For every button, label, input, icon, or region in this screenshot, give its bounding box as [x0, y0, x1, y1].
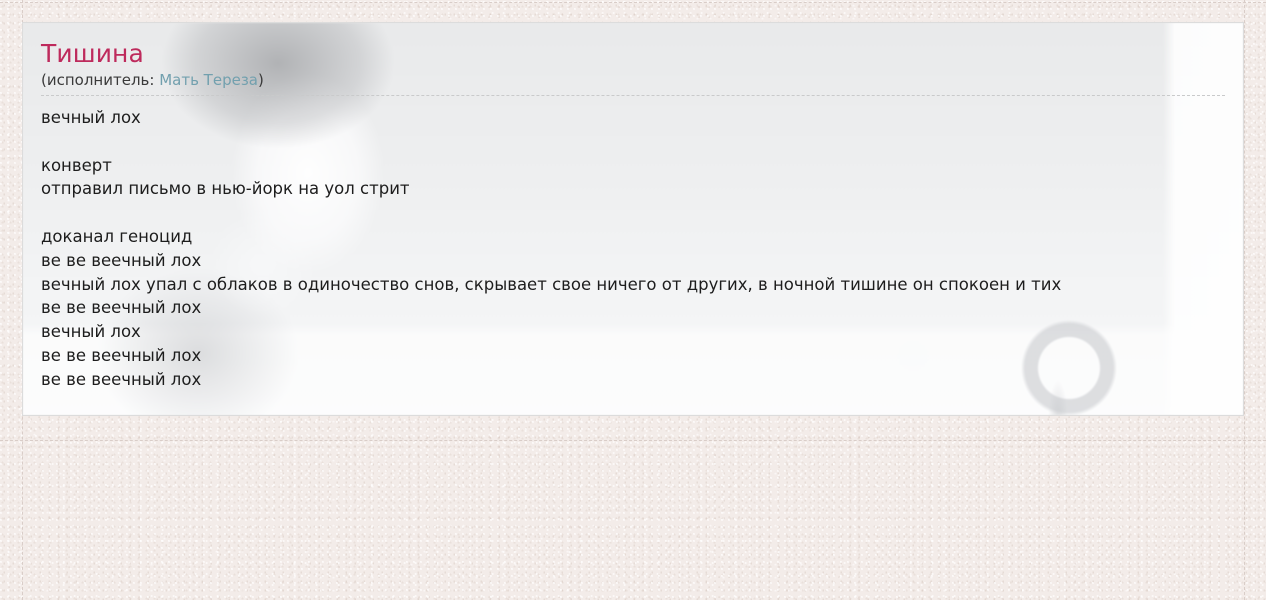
song-title: Тишина	[41, 39, 1225, 69]
page-guide-line-bottom	[0, 440, 1266, 441]
page-guide-line-right	[1244, 0, 1245, 600]
artist-link[interactable]: Мать Тереза	[159, 71, 258, 89]
artist-prefix-label: (исполнитель:	[41, 71, 159, 89]
artist-line: (исполнитель: Мать Тереза)	[41, 69, 1225, 96]
page-guide-line-top	[0, 2, 1266, 3]
panel-content: Тишина (исполнитель: Мать Тереза) вечный…	[23, 23, 1243, 392]
lyrics-panel: Тишина (исполнитель: Мать Тереза) вечный…	[22, 22, 1244, 416]
artist-suffix-label: )	[258, 71, 264, 89]
lyrics-text: вечный лох конверт отправил письмо в нью…	[41, 96, 1225, 392]
